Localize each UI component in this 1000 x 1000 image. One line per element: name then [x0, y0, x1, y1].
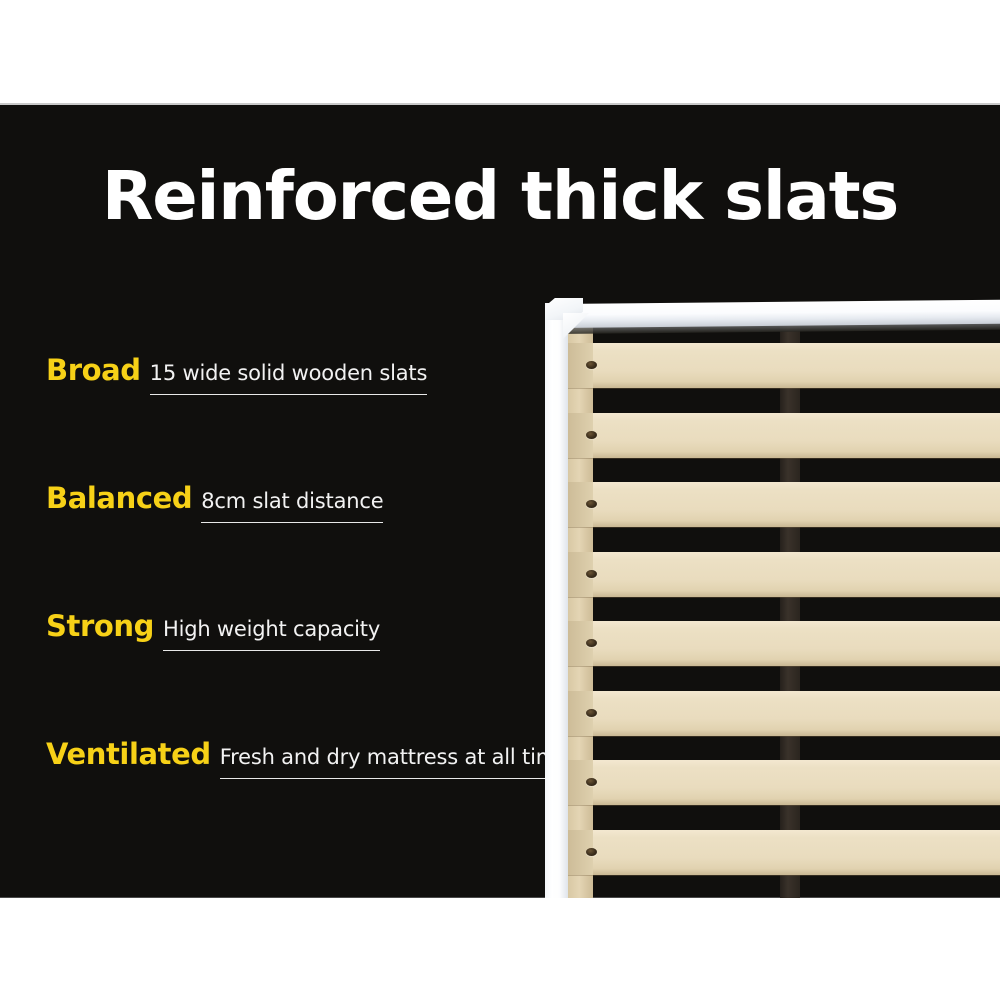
dark-center-support-strap: [780, 320, 800, 898]
feature-list: Broad 15 wide solid wooden slats Balance…: [46, 353, 546, 865]
feature-item-strong: Strong High weight capacity: [46, 609, 546, 737]
slat-end-cap: [568, 691, 593, 736]
white-corner-post: [545, 303, 568, 898]
wooden-slat: [568, 482, 1000, 527]
top-white-margin: [0, 0, 1000, 105]
wooden-slat: [568, 691, 1000, 736]
slat-end-cap: [568, 413, 593, 458]
slat-end-cap: [568, 830, 593, 875]
wooden-slat: [568, 552, 1000, 597]
wooden-slat: [568, 343, 1000, 388]
slat-end-cap: [568, 621, 593, 666]
bed-slat-base-photo: [525, 105, 1000, 898]
bottom-white-margin: [0, 898, 1000, 1000]
feature-description-broad: 15 wide solid wooden slats: [150, 361, 428, 385]
feature-item-balanced: Balanced 8cm slat distance: [46, 481, 546, 609]
wooden-slat: [568, 621, 1000, 666]
slat-end-cap: [568, 552, 593, 597]
slat-end-cap: [568, 760, 593, 805]
wooden-slat: [568, 830, 1000, 875]
feature-item-broad: Broad 15 wide solid wooden slats: [46, 353, 546, 481]
feature-label-ventilated: Ventilated: [46, 737, 211, 771]
black-content-panel: Reinforced thick slats Broad 15 wide sol…: [0, 105, 1000, 898]
feature-underline-strong: High weight capacity: [163, 619, 380, 651]
feature-item-ventilated: Ventilated Fresh and dry mattress at all…: [46, 737, 546, 865]
product-feature-poster: Reinforced thick slats Broad 15 wide sol…: [0, 0, 1000, 1000]
white-top-rail: [555, 300, 1000, 328]
feature-label-strong: Strong: [46, 609, 154, 643]
feature-description-balanced: 8cm slat distance: [201, 489, 383, 513]
slat-end-cap: [568, 343, 593, 388]
feature-label-broad: Broad: [46, 353, 141, 387]
slat-end-cap: [568, 482, 593, 527]
wooden-side-rail: [568, 320, 593, 898]
feature-underline-broad: 15 wide solid wooden slats: [150, 363, 428, 395]
wooden-slat: [568, 760, 1000, 805]
feature-label-balanced: Balanced: [46, 481, 192, 515]
feature-description-strong: High weight capacity: [163, 617, 380, 641]
wooden-slat: [568, 413, 1000, 458]
feature-underline-balanced: 8cm slat distance: [201, 491, 383, 523]
panel-top-hairline: [0, 103, 1000, 105]
